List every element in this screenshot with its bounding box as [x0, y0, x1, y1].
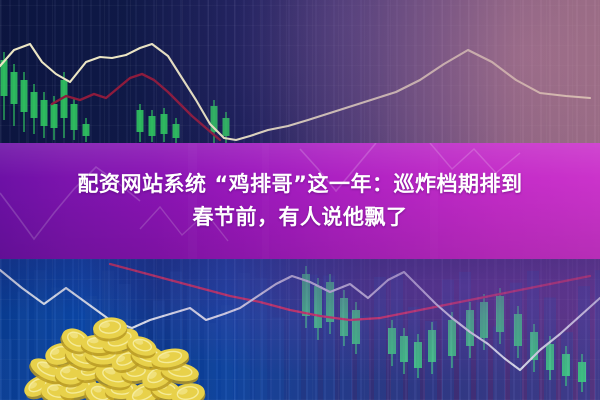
headline-block: 配资网站系统 “鸡排哥”这一年：巡炸档期排到 春节前，有人说他飘了: [0, 143, 600, 259]
bottom-chart-purple-haze: [0, 258, 600, 400]
top-chart-purple-haze: [0, 0, 600, 146]
headline-line-2: 春节前，有人说他飘了: [193, 204, 408, 231]
top-chart-region: [0, 0, 600, 146]
bottom-chart-region: [0, 258, 600, 400]
cover-image: 配资网站系统 “鸡排哥”这一年：巡炸档期排到 春节前，有人说他飘了: [0, 0, 600, 400]
headline-line-1: 配资网站系统 “鸡排哥”这一年：巡炸档期排到: [78, 171, 523, 198]
